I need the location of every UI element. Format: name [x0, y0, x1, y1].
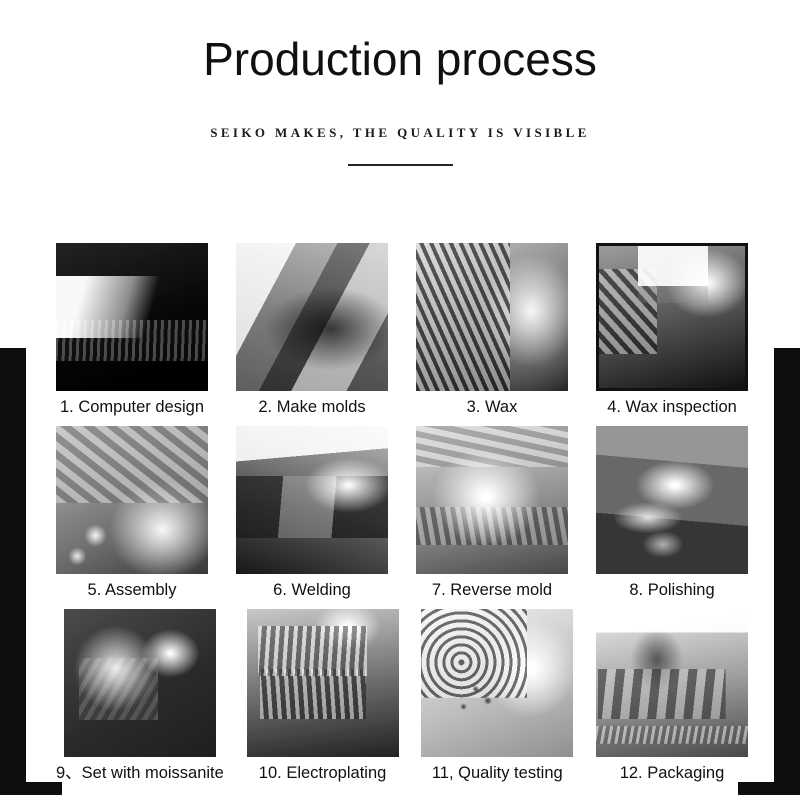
- process-step-caption: 10. Electroplating: [259, 764, 387, 784]
- process-step-caption: 12. Packaging: [620, 764, 725, 784]
- process-step[interactable]: 8. Polishing: [596, 426, 748, 601]
- welding-photo[interactable]: [236, 426, 388, 574]
- process-step[interactable]: 3. Wax: [416, 243, 568, 418]
- assembly-photo[interactable]: [56, 426, 208, 574]
- quality-testing-photo[interactable]: [421, 609, 573, 757]
- wax-inspection-photo[interactable]: [596, 243, 748, 391]
- photo-texture: [421, 609, 573, 757]
- photo-texture: [64, 609, 216, 757]
- photo-texture: [599, 246, 745, 388]
- process-step[interactable]: 1. Computer design: [56, 243, 208, 418]
- process-row: 9、Set with moissanite10. Electroplating1…: [56, 609, 748, 784]
- process-step-caption: 5. Assembly: [88, 581, 177, 601]
- page-header: Production process SEIKO MAKES, THE QUAL…: [26, 0, 774, 166]
- photo-texture: [596, 609, 748, 757]
- make-molds-photo[interactable]: [236, 243, 388, 391]
- packaging-photo[interactable]: [596, 609, 748, 757]
- process-step-caption: 8. Polishing: [629, 581, 714, 601]
- content-card: Production process SEIKO MAKES, THE QUAL…: [26, 0, 774, 782]
- process-row: 5. Assembly6. Welding7. Reverse mold8. P…: [56, 426, 748, 601]
- production-process-page: Production process SEIKO MAKES, THE QUAL…: [0, 0, 800, 795]
- process-step[interactable]: 5. Assembly: [56, 426, 208, 601]
- page-subtitle: SEIKO MAKES, THE QUALITY IS VISIBLE: [26, 125, 774, 141]
- process-step[interactable]: 12. Packaging: [596, 609, 748, 784]
- process-step[interactable]: 4. Wax inspection: [596, 243, 748, 418]
- process-step-caption: 4. Wax inspection: [607, 398, 737, 418]
- process-step-caption: 3. Wax: [467, 398, 518, 418]
- process-row: 1. Computer design2. Make molds3. Wax4. …: [56, 243, 748, 418]
- process-step-caption: 2. Make molds: [258, 398, 365, 418]
- page-title: Production process: [26, 34, 774, 85]
- process-grid: 1. Computer design2. Make molds3. Wax4. …: [56, 243, 748, 791]
- process-step-caption: 7. Reverse mold: [432, 581, 552, 601]
- computer-design-photo[interactable]: [56, 243, 208, 391]
- wax-photo[interactable]: [416, 243, 568, 391]
- photo-texture: [247, 609, 399, 757]
- process-step-caption: 1. Computer design: [60, 398, 204, 418]
- process-step[interactable]: 9、Set with moissanite: [56, 609, 224, 784]
- photo-texture: [236, 243, 388, 391]
- process-step[interactable]: 2. Make molds: [236, 243, 388, 418]
- photo-texture: [56, 426, 208, 574]
- photo-texture: [236, 426, 388, 574]
- process-step[interactable]: 11, Quality testing: [421, 609, 573, 784]
- process-step[interactable]: 7. Reverse mold: [416, 426, 568, 601]
- process-step-caption: 11, Quality testing: [432, 764, 563, 784]
- electroplating-photo[interactable]: [247, 609, 399, 757]
- reverse-mold-photo[interactable]: [416, 426, 568, 574]
- process-step[interactable]: 6. Welding: [236, 426, 388, 601]
- set-with-moissanite-photo[interactable]: [64, 609, 216, 757]
- photo-texture: [416, 426, 568, 574]
- process-step[interactable]: 10. Electroplating: [247, 609, 399, 784]
- photo-texture: [56, 243, 208, 391]
- header-divider: [348, 164, 453, 166]
- process-step-caption: 9、Set with moissanite: [56, 764, 224, 784]
- process-step-caption: 6. Welding: [273, 581, 351, 601]
- photo-texture: [416, 243, 568, 391]
- polishing-photo[interactable]: [596, 426, 748, 574]
- photo-texture: [596, 426, 748, 574]
